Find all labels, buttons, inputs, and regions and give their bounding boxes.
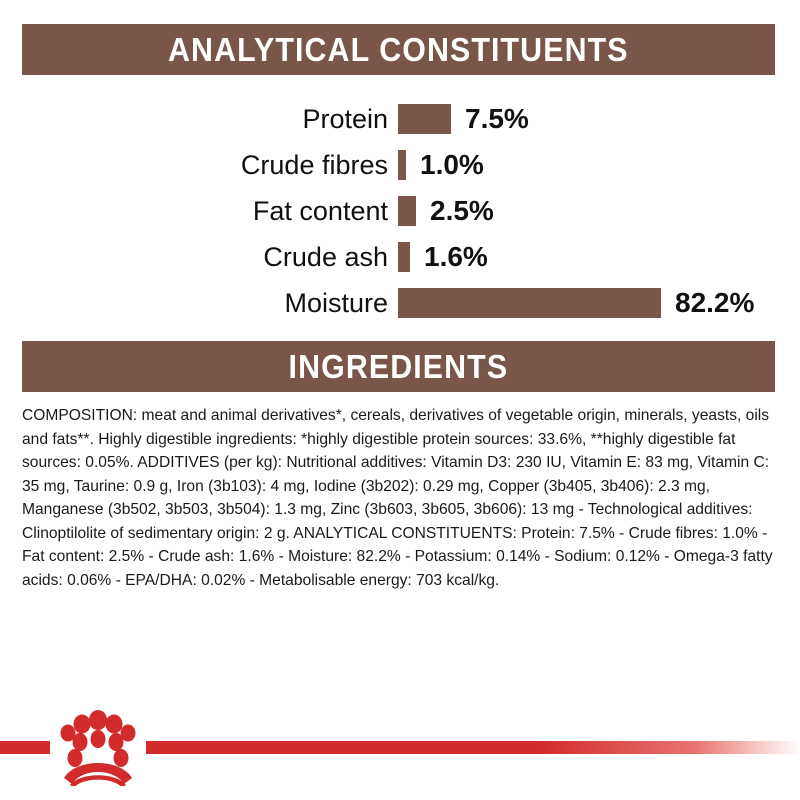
chart-bar xyxy=(398,150,406,180)
analytical-constituents-header: ANALYTICAL CONSTITUENTS xyxy=(22,24,775,75)
analytical-constituents-title: ANALYTICAL CONSTITUENTS xyxy=(168,33,629,66)
chart-bar-wrap: 1.6% xyxy=(398,234,488,280)
ingredients-paragraph: COMPOSITION: meat and animal derivatives… xyxy=(22,404,784,592)
analytical-constituents-chart: Protein 7.5% Crude fibres 1.0% Fat conte… xyxy=(0,96,800,326)
chart-row: Crude ash 1.6% xyxy=(0,234,800,280)
chart-value-label: 2.5% xyxy=(430,197,494,225)
footer xyxy=(0,690,800,800)
chart-row: Moisture 82.2% xyxy=(0,280,800,326)
chart-row: Crude fibres 1.0% xyxy=(0,142,800,188)
chart-bar xyxy=(398,196,416,226)
chart-value-label: 1.0% xyxy=(420,151,484,179)
chart-bar-wrap: 82.2% xyxy=(398,280,754,326)
chart-bar xyxy=(398,242,410,272)
chart-bar-wrap: 2.5% xyxy=(398,188,494,234)
chart-bar-wrap: 1.0% xyxy=(398,142,484,188)
chart-value-label: 7.5% xyxy=(465,105,529,133)
chart-row: Fat content 2.5% xyxy=(0,188,800,234)
ingredients-body: COMPOSITION: meat and animal derivatives… xyxy=(22,404,784,592)
footer-rule-left xyxy=(0,741,50,754)
ingredients-title: INGREDIENTS xyxy=(289,350,509,383)
chart-bar xyxy=(398,288,661,318)
footer-rule-right xyxy=(146,741,800,754)
chart-value-label: 1.6% xyxy=(424,243,488,271)
chart-category-label: Protein xyxy=(0,106,388,133)
chart-category-label: Fat content xyxy=(0,198,388,225)
chart-category-label: Crude ash xyxy=(0,244,388,271)
chart-row: Protein 7.5% xyxy=(0,96,800,142)
chart-category-label: Moisture xyxy=(0,290,388,317)
chart-category-label: Crude fibres xyxy=(0,152,388,179)
chart-bar xyxy=(398,104,451,134)
chart-value-label: 82.2% xyxy=(675,289,754,317)
chart-bar-wrap: 7.5% xyxy=(398,96,529,142)
ingredients-header: INGREDIENTS xyxy=(22,341,775,392)
nutrition-label-page: ANALYTICAL CONSTITUENTS Protein 7.5% Cru… xyxy=(0,0,800,800)
royal-canin-crown-logo-icon xyxy=(52,708,144,786)
